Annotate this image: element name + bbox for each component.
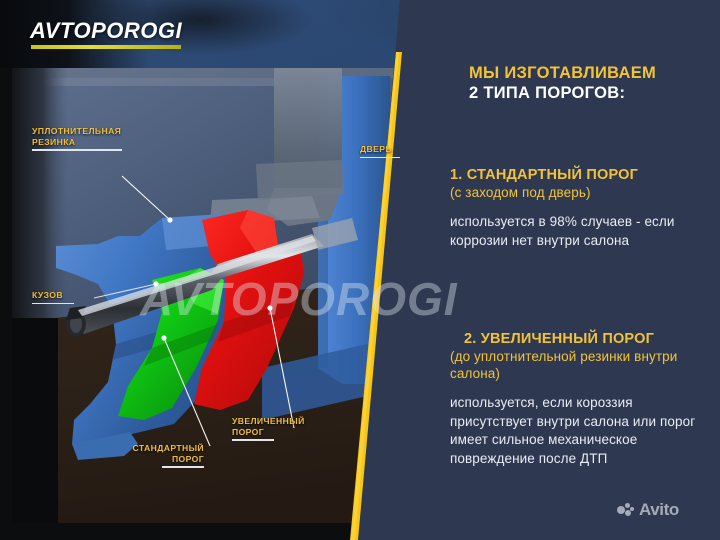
sill-type-2-subtitle: (до уплотнительной резинки внутри салона… bbox=[450, 348, 715, 382]
poster-root: AVTOPOROGI bbox=[0, 0, 720, 540]
sill-type-1-body: используется в 98% случаев - если корроз… bbox=[450, 213, 715, 250]
callout-door: ДВЕРЬ bbox=[360, 144, 400, 158]
headline-line2: 2 ТИПА ПОРОГОВ: bbox=[469, 83, 719, 103]
sill-type-2-body: используется, если короззия присутствует… bbox=[450, 394, 715, 468]
callout-body-line1: КУЗОВ bbox=[32, 290, 74, 301]
callout-body-rule bbox=[32, 303, 74, 305]
headline: МЫ ИЗГОТАВЛИВАЕМ 2 ТИПА ПОРОГОВ: bbox=[469, 63, 719, 103]
callout-standard-sill-line2: ПОРОГ bbox=[92, 454, 204, 465]
avito-dots-icon bbox=[617, 503, 635, 517]
callout-seal-rubber-line1: УПЛОТНИТЕЛЬНАЯ bbox=[32, 126, 122, 137]
callout-door-rule bbox=[360, 157, 400, 159]
diagram-panel: УПЛОТНИТЕЛЬНАЯ РЕЗИНКА КУЗОВ СТАНДАРТНЫЙ… bbox=[12, 68, 402, 523]
callout-extended-sill: УВЕЛИЧЕННЫЙ ПОРОГ bbox=[232, 416, 344, 441]
avito-logo: Avito bbox=[617, 500, 679, 520]
callout-seal-rubber-line2: РЕЗИНКА bbox=[32, 137, 122, 148]
sill-type-block-2: 2. УВЕЛИЧЕННЫЙ ПОРОГ (до уплотнительной … bbox=[450, 330, 715, 468]
callout-standard-sill: СТАНДАРТНЫЙ ПОРОГ bbox=[92, 443, 204, 468]
callout-body: КУЗОВ bbox=[32, 290, 74, 304]
callout-door-line1: ДВЕРЬ bbox=[360, 144, 400, 155]
callout-seal-rubber-rule bbox=[32, 149, 122, 151]
callout-extended-sill-line1: УВЕЛИЧЕННЫЙ bbox=[232, 416, 344, 427]
sill-type-block-1: 1. СТАНДАРТНЫЙ ПОРОГ (с заходом под двер… bbox=[450, 166, 715, 250]
avito-wordmark: Avito bbox=[639, 500, 679, 520]
brand-logo-underline bbox=[31, 45, 181, 49]
callout-extended-sill-rule bbox=[232, 439, 274, 441]
callout-extended-sill-line2: ПОРОГ bbox=[232, 427, 344, 438]
sill-type-1-subtitle: (с заходом под дверь) bbox=[450, 184, 715, 201]
callout-standard-sill-line1: СТАНДАРТНЫЙ bbox=[92, 443, 204, 454]
callout-standard-sill-rule bbox=[162, 466, 204, 468]
brand-logo: AVTOPOROGI bbox=[30, 18, 182, 44]
sill-type-1-title: 1. СТАНДАРТНЫЙ ПОРОГ bbox=[450, 166, 715, 184]
headline-line1: МЫ ИЗГОТАВЛИВАЕМ bbox=[469, 63, 719, 83]
info-text-wrap: МЫ ИЗГОТАВЛИВАЕМ 2 ТИПА ПОРОГОВ: 1. СТАН… bbox=[402, 0, 720, 540]
sill-type-2-title: 2. УВЕЛИЧЕННЫЙ ПОРОГ bbox=[464, 330, 715, 348]
callout-seal-rubber: УПЛОТНИТЕЛЬНАЯ РЕЗИНКА bbox=[32, 126, 122, 151]
